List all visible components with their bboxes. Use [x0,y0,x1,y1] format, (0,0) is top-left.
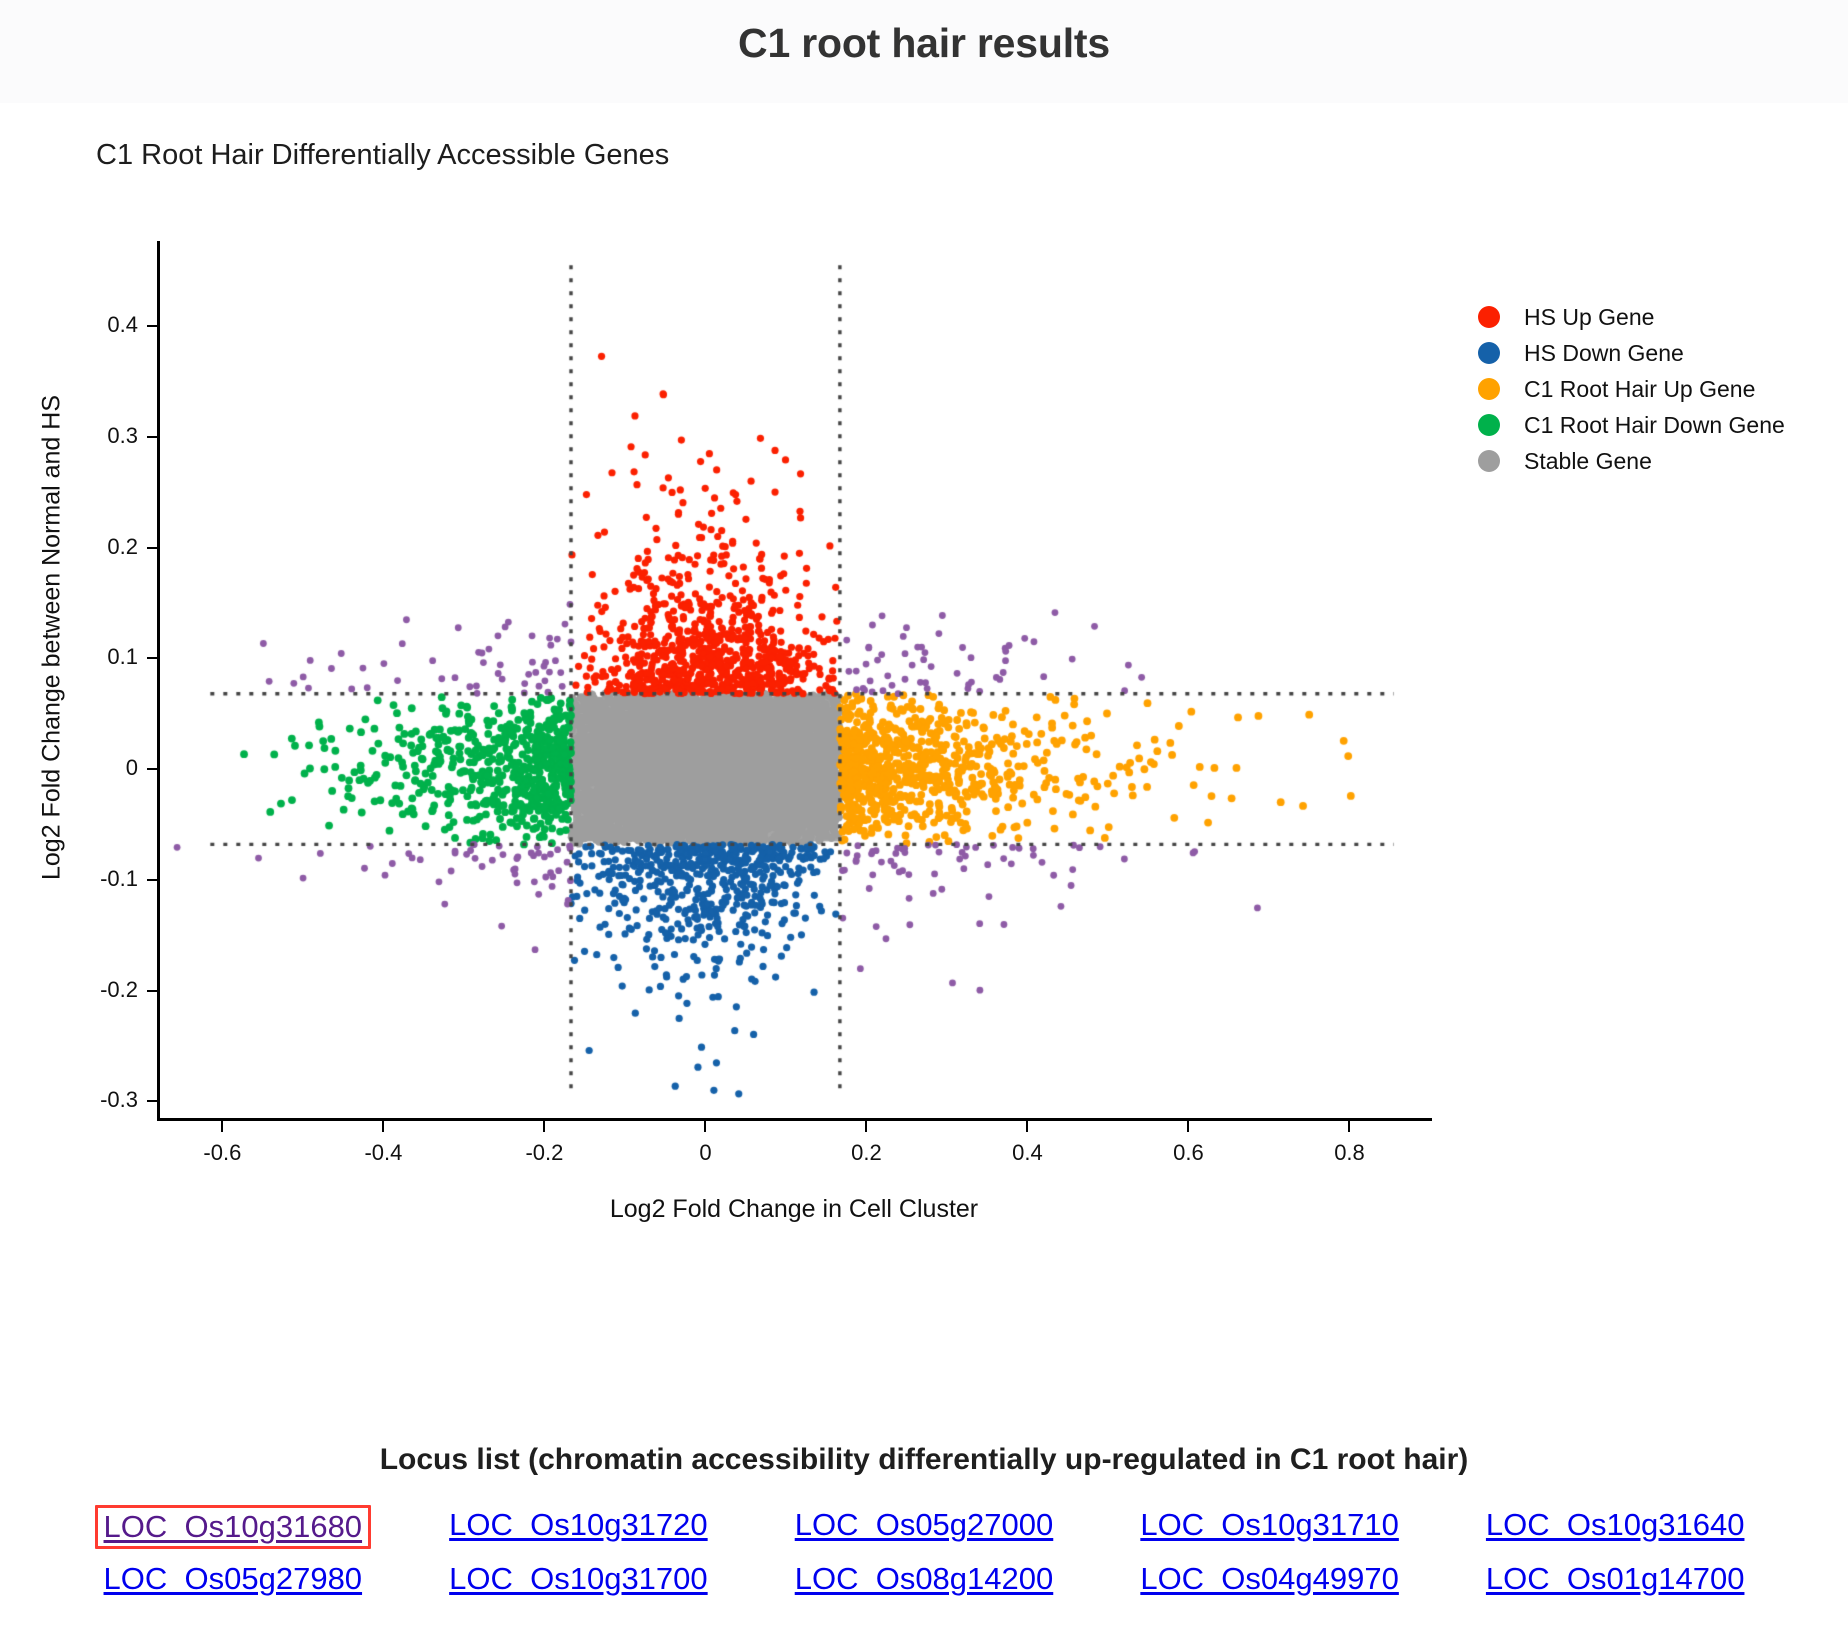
legend-item[interactable]: C1 Root Hair Up Gene [1478,371,1828,407]
x-tick-label: 0.8 [1289,1140,1409,1166]
x-tick-label: -0.2 [484,1140,604,1166]
x-tick-label: 0 [645,1140,765,1166]
locus-link[interactable]: LOC_Os10g31700 [445,1559,712,1599]
locus-link[interactable]: LOC_Os10g31720 [445,1505,712,1549]
page-root: C1 root hair results C1 Root Hair Differ… [0,0,1848,1648]
x-tick-mark [704,1121,706,1132]
legend-swatch-icon [1478,378,1500,400]
x-tick-mark [1348,1121,1350,1132]
legend-swatch-icon [1478,414,1500,436]
y-tick-mark [147,657,158,659]
y-tick-mark [147,325,158,327]
x-tick-label: 0.4 [967,1140,1087,1166]
legend-swatch-icon [1478,306,1500,328]
legend-swatch-icon [1478,450,1500,472]
locus-link[interactable]: LOC_Os10g31640 [1482,1505,1749,1549]
x-tick-label: -0.6 [162,1140,282,1166]
legend-item-label: HS Down Gene [1524,340,1684,367]
locus-link[interactable]: LOC_Os08g14200 [791,1559,1058,1599]
locus-list-grid: LOC_Os10g31680LOC_Os10g31720LOC_Os05g270… [0,1505,1848,1599]
locus-link[interactable]: LOC_Os05g27980 [100,1559,367,1599]
x-axis-spine [157,1118,1432,1121]
locus-link[interactable]: LOC_Os10g31680 [95,1505,372,1549]
x-tick-mark [865,1121,867,1132]
x-tick-label: 0.2 [806,1140,926,1166]
x-tick-mark [1026,1121,1028,1132]
x-axis-title: Log2 Fold Change in Cell Cluster [158,1195,1430,1224]
y-tick-label: -0.3 [38,1087,138,1113]
y-tick-mark [147,768,158,770]
legend-item-label: C1 Root Hair Up Gene [1524,376,1755,403]
locus-list-section: Locus list (chromatin accessibility diff… [0,1433,1848,1599]
figure-container: C1 Root Hair Differentially Accessible G… [0,103,1848,1433]
legend-item-label: HS Up Gene [1524,304,1654,331]
x-tick-mark [221,1121,223,1132]
legend-item[interactable]: C1 Root Hair Down Gene [1478,407,1828,443]
x-tick-label: 0.6 [1128,1140,1248,1166]
x-tick-label: -0.4 [323,1140,443,1166]
locus-link[interactable]: LOC_Os04g49970 [1136,1559,1403,1599]
legend-swatch-icon [1478,342,1500,364]
y-tick-mark [147,990,158,992]
legend-item-label: C1 Root Hair Down Gene [1524,412,1785,439]
legend-item[interactable]: HS Down Gene [1478,335,1828,371]
y-axis-title: Log2 Fold Change between Normal and HS [38,318,67,958]
y-tick-mark [147,879,158,881]
locus-link[interactable]: LOC_Os05g27000 [791,1505,1058,1549]
locus-link[interactable]: LOC_Os01g14700 [1482,1559,1749,1599]
legend-item[interactable]: HS Up Gene [1478,299,1828,335]
x-tick-mark [543,1121,545,1132]
y-tick-mark [147,547,158,549]
legend-item[interactable]: Stable Gene [1478,443,1828,479]
page-title: C1 root hair results [0,20,1848,67]
legend-item-label: Stable Gene [1524,448,1652,475]
y-tick-mark [147,1100,158,1102]
y-tick-label: -0.2 [38,977,138,1003]
y-tick-mark [147,436,158,438]
locus-link[interactable]: LOC_Os10g31710 [1136,1505,1403,1549]
chart-legend: HS Up GeneHS Down GeneC1 Root Hair Up Ge… [1478,299,1828,479]
scatter-plot-canvas [158,243,1430,1118]
locus-list-heading: Locus list (chromatin accessibility diff… [0,1433,1848,1477]
x-tick-mark [1187,1121,1189,1132]
x-tick-mark [382,1121,384,1132]
